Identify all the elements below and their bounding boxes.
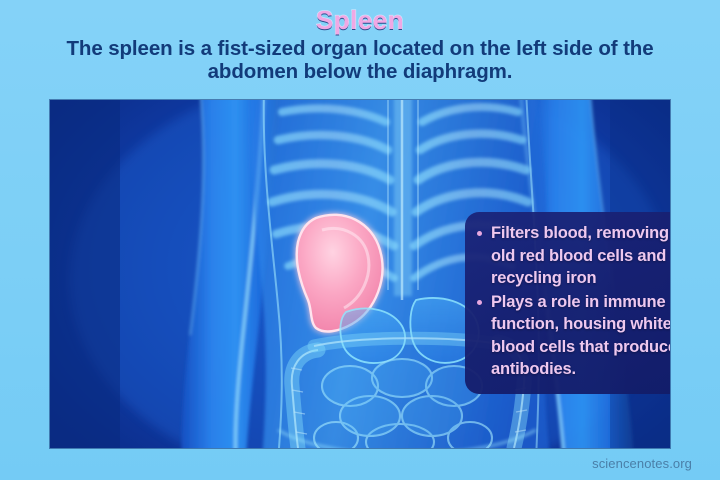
list-item: Plays a role in immune function, housing… [491, 291, 670, 381]
fact-text: Plays a role in immune function, housing… [491, 293, 670, 379]
fact-text: Filters blood, removing old red blood ce… [491, 224, 669, 287]
header: Spleen The spleen is a fist-sized organ … [0, 0, 720, 83]
page-title: Spleen [0, 5, 720, 35]
facts-list: Filters blood, removing old red blood ce… [475, 222, 670, 381]
list-item: Filters blood, removing old red blood ce… [491, 222, 670, 290]
bullet-dot-icon [477, 300, 482, 305]
anatomy-illustration-panel: Filters blood, removing old red blood ce… [50, 100, 670, 448]
bullet-dot-icon [477, 231, 482, 236]
page-subtitle: The spleen is a fist-sized organ located… [0, 37, 720, 83]
infographic-root: Spleen The spleen is a fist-sized organ … [0, 0, 720, 480]
facts-callout-box: Filters blood, removing old red blood ce… [465, 212, 670, 394]
source-credit: sciencenotes.org [592, 456, 692, 471]
